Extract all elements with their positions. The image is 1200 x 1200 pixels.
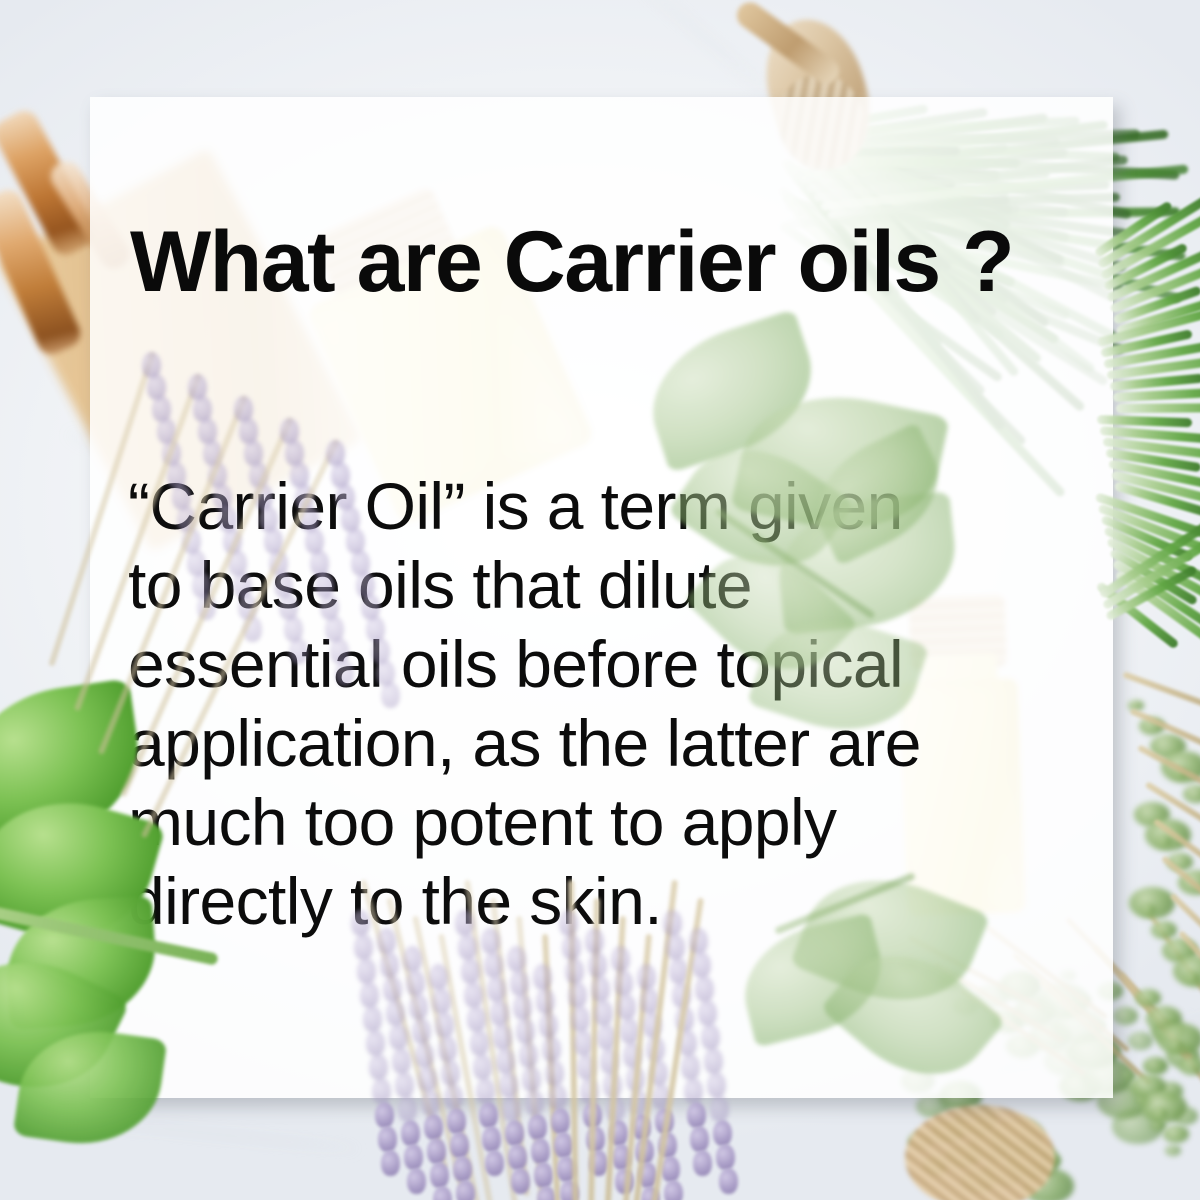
lavender-bud bbox=[698, 1000, 717, 1026]
lavender-bud bbox=[409, 994, 428, 1020]
lavender-bud bbox=[484, 952, 503, 978]
lavender-bud bbox=[476, 1078, 495, 1104]
lavender-bud bbox=[464, 982, 483, 1008]
lavender-bud bbox=[415, 1042, 434, 1068]
lavender-bud bbox=[513, 994, 532, 1020]
lavender-bud bbox=[531, 1138, 550, 1164]
lavender-bud bbox=[432, 988, 451, 1014]
lavender-bud bbox=[695, 976, 714, 1002]
lavender-bud bbox=[528, 1114, 547, 1140]
lavender-bud bbox=[710, 1096, 729, 1122]
lavender-bud bbox=[456, 1180, 475, 1200]
lavender-bud bbox=[438, 1036, 457, 1062]
lavender-bud bbox=[289, 638, 308, 664]
lavender-bud bbox=[430, 1162, 449, 1188]
lavender-bud bbox=[363, 1006, 382, 1032]
lavender-bud bbox=[441, 1060, 460, 1086]
lavender-bud bbox=[585, 928, 604, 954]
lavender-bud bbox=[404, 1144, 423, 1170]
lavender-bud bbox=[424, 1114, 443, 1140]
lavender-bud bbox=[360, 982, 379, 1008]
lavender-bud bbox=[689, 928, 708, 954]
lavender-bud bbox=[386, 1000, 405, 1026]
lavender-bud bbox=[687, 1102, 706, 1128]
body-line: essential oils before topical bbox=[128, 625, 1088, 704]
lavender-bud bbox=[559, 910, 578, 936]
lavender-bud bbox=[481, 928, 500, 954]
lavender-bud bbox=[713, 1120, 732, 1146]
lavender-bud bbox=[539, 1012, 558, 1038]
lavender-bud bbox=[351, 910, 370, 936]
lavender-bud bbox=[421, 1090, 440, 1116]
thyme-leaf bbox=[1163, 1125, 1189, 1143]
thyme-leaf bbox=[1141, 1091, 1187, 1123]
lavender-bud bbox=[369, 1054, 388, 1080]
lavender-bud bbox=[571, 1006, 590, 1032]
lavender-bud bbox=[508, 1144, 527, 1170]
lavender-bud bbox=[447, 1108, 466, 1134]
lavender-bud bbox=[482, 1126, 501, 1152]
lavender-bud bbox=[487, 976, 506, 1002]
lavender-bud bbox=[666, 934, 685, 960]
lavender-bud bbox=[354, 934, 373, 960]
lavender-bud bbox=[395, 1072, 414, 1098]
lavender-bud bbox=[637, 964, 656, 990]
thyme-leaf bbox=[1135, 989, 1161, 1007]
lavender-bud bbox=[473, 1054, 492, 1080]
lavender-bud bbox=[542, 1036, 561, 1062]
lavender-bud bbox=[435, 1012, 454, 1038]
lavender-bud bbox=[377, 928, 396, 954]
lavender-bud bbox=[707, 1072, 726, 1098]
thyme-leaf bbox=[1165, 1145, 1181, 1156]
lavender-bud bbox=[467, 1006, 486, 1032]
lavender-bud bbox=[453, 1156, 472, 1182]
lavender-bud bbox=[614, 970, 633, 996]
lavender-bud bbox=[357, 958, 376, 984]
lavender-bud bbox=[565, 958, 584, 984]
lavender-bud bbox=[461, 958, 480, 984]
thyme-leaf bbox=[1179, 1057, 1200, 1075]
lavender-bud bbox=[427, 1138, 446, 1164]
lavender-bud bbox=[562, 934, 581, 960]
lavender-bud bbox=[594, 1000, 613, 1026]
lavender-bud bbox=[378, 1126, 397, 1152]
lavender-bud bbox=[664, 1180, 683, 1200]
lavender-bud bbox=[335, 660, 354, 686]
lavender-bud bbox=[389, 1024, 408, 1050]
lavender-bud bbox=[458, 934, 477, 960]
lavender-bud bbox=[681, 1054, 700, 1080]
lavender-bud bbox=[551, 1108, 570, 1134]
lavender-bud bbox=[548, 1084, 567, 1110]
lavender-bud bbox=[375, 1102, 394, 1128]
lavender-bud bbox=[554, 1132, 573, 1158]
infographic-poster: What are Carrier oils ? “Carrier Oil” is… bbox=[0, 0, 1200, 1200]
lavender-bud bbox=[591, 976, 610, 1002]
thyme-leaf bbox=[1113, 1007, 1138, 1025]
lavender-bud bbox=[568, 982, 587, 1008]
thyme-leaf bbox=[1129, 887, 1175, 919]
lavender-bud bbox=[444, 1084, 463, 1110]
lavender-bud bbox=[510, 970, 529, 996]
lavender-bud bbox=[381, 682, 400, 708]
lavender-bud bbox=[507, 946, 526, 972]
thyme-leaf bbox=[1151, 921, 1177, 939]
lavender-bud bbox=[429, 964, 448, 990]
thyme-leaf bbox=[1128, 1032, 1153, 1050]
lavender-bud bbox=[536, 988, 555, 1014]
lavender-bud bbox=[516, 1018, 535, 1044]
page-title: What are Carrier oils ? bbox=[130, 219, 1013, 305]
lavender-bud bbox=[479, 1102, 498, 1128]
lavender-bud bbox=[690, 1126, 709, 1152]
lavender-bud bbox=[485, 1150, 504, 1176]
lavender-bud bbox=[366, 1030, 385, 1056]
lavender-bud bbox=[663, 910, 682, 936]
lavender-bud bbox=[502, 1096, 521, 1122]
rosemary-needle bbox=[1116, 403, 1200, 413]
lavender-bud bbox=[450, 1132, 469, 1158]
lavender-bud bbox=[381, 1150, 400, 1176]
lavender-bud bbox=[392, 1048, 411, 1074]
lavender-bud bbox=[490, 1000, 509, 1026]
lavender-bud bbox=[412, 1018, 431, 1044]
lavender-bud bbox=[588, 952, 607, 978]
lavender-bud bbox=[406, 970, 425, 996]
lavender-bud bbox=[505, 1120, 524, 1146]
lavender-bud bbox=[684, 1078, 703, 1104]
lavender-bud bbox=[383, 976, 402, 1002]
lavender-bud bbox=[418, 1066, 437, 1092]
lavender-bud bbox=[692, 952, 711, 978]
lavender-bud bbox=[533, 964, 552, 990]
lavender-bud bbox=[719, 1168, 738, 1194]
thyme-leaf bbox=[1143, 1057, 1168, 1075]
lavender-bud bbox=[407, 1168, 426, 1194]
lavender-bud bbox=[511, 1168, 530, 1194]
lavender-bud bbox=[534, 1162, 553, 1188]
lavender-bud bbox=[380, 952, 399, 978]
body-line: application, as the latter are bbox=[128, 704, 1088, 783]
lavender-bud bbox=[455, 910, 474, 936]
lavender-bud bbox=[545, 1060, 564, 1086]
lavender-bud bbox=[372, 1078, 391, 1104]
lavender-bud bbox=[701, 1024, 720, 1050]
lavender-bud bbox=[519, 1042, 538, 1068]
lavender-bud bbox=[716, 1144, 735, 1170]
lavender-bud bbox=[470, 1030, 489, 1056]
twine-ball bbox=[905, 1105, 1055, 1200]
body-line: much too potent to apply bbox=[128, 783, 1088, 862]
lavender-bud bbox=[401, 1120, 420, 1146]
lavender-bud bbox=[496, 1048, 515, 1074]
lavender-bud bbox=[499, 1072, 518, 1098]
lavender-bud bbox=[493, 1024, 512, 1050]
lavender-bud bbox=[693, 1150, 712, 1176]
lavender-bud bbox=[704, 1048, 723, 1074]
lavender-bud bbox=[525, 1090, 544, 1116]
lavender-bud bbox=[522, 1066, 541, 1092]
lavender-bud bbox=[611, 946, 630, 972]
lavender-bud bbox=[617, 994, 636, 1020]
lavender-bud bbox=[398, 1096, 417, 1122]
lavender-bud bbox=[403, 946, 422, 972]
